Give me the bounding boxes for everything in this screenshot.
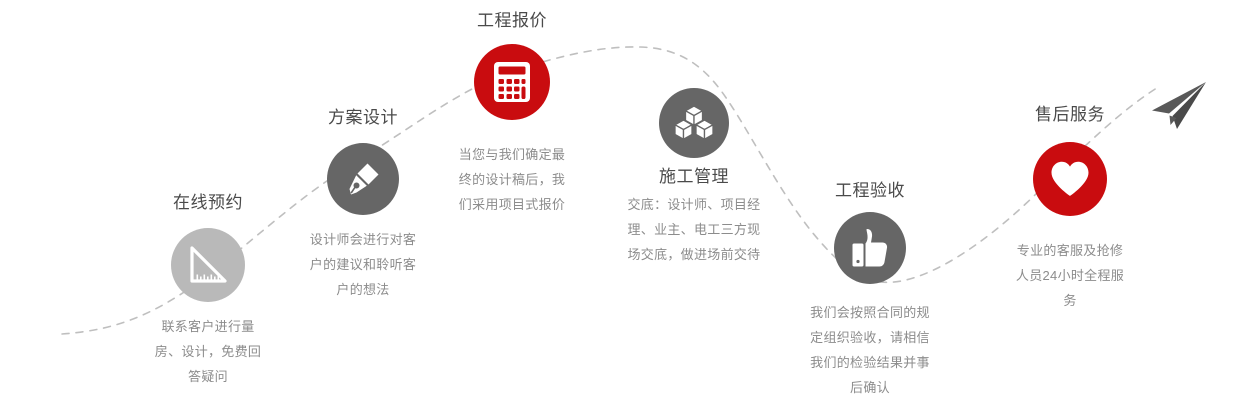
paper-plane-icon <box>1148 80 1210 132</box>
step-description-line: 当您与我们确定最 <box>412 142 612 167</box>
step-title: 工程报价 <box>412 10 612 32</box>
flow-step-project-quotation[interactable]: 工程报价 <box>412 10 612 217</box>
step-description-line: 人员24小时全程服 <box>970 263 1170 288</box>
step-description-line: 场交底，做进场前交待 <box>594 242 794 267</box>
step-description: 当您与我们确定最 终的设计稿后，我 们采用项目式报价 <box>412 142 612 217</box>
step-description-line: 房、设计，免费回 <box>108 339 308 364</box>
step-description-line: 务 <box>970 288 1170 313</box>
flow-step-after-sales-service[interactable]: 售后服务 专业的客服及抢修 人员24小时全程服 务 <box>970 104 1170 313</box>
step-description-line: 设计师会进行对客 <box>263 227 463 252</box>
step-icon-circle[interactable] <box>327 143 399 215</box>
step-description-line: 联系客户进行量 <box>108 314 308 339</box>
heart-icon <box>1049 159 1091 199</box>
service-process-flow: 在线预约 联系客户进行量 房、设计 <box>0 0 1245 402</box>
step-description-line: 理、业主、电工三方现 <box>594 217 794 242</box>
step-description: 专业的客服及抢修 人员24小时全程服 务 <box>970 238 1170 313</box>
step-description-line: 定组织验收，请相信 <box>770 325 970 350</box>
step-icon-circle[interactable] <box>834 212 906 284</box>
step-description-line: 后确认 <box>770 375 970 400</box>
flow-step-construction-management[interactable]: 施工管理 交底：设计师、项目经 理、业主、电工三方现 场交底，做进场前交待 <box>594 88 794 267</box>
step-icon-circle[interactable] <box>171 228 245 302</box>
step-title: 施工管理 <box>594 166 794 188</box>
thumbs-up-icon <box>849 226 891 270</box>
flow-step-project-acceptance[interactable]: 工程验收 我们会按照合同的规 定组织验收，请相信 我们的检验结果并事 后确认 <box>770 180 970 400</box>
step-description-line: 我们的检验结果并事 <box>770 350 970 375</box>
step-description-line: 专业的客服及抢修 <box>970 238 1170 263</box>
step-description-line: 们采用项目式报价 <box>412 192 612 217</box>
step-icon-circle[interactable] <box>659 88 729 158</box>
step-description-line: 交底：设计师、项目经 <box>594 192 794 217</box>
step-description-line: 户的建议和聆听客 <box>263 252 463 277</box>
step-description-line: 户的想法 <box>263 277 463 302</box>
ruler-triangle-icon <box>186 243 230 287</box>
calculator-icon <box>492 60 532 104</box>
step-icon-circle[interactable] <box>1033 142 1107 216</box>
fountain-pen-icon <box>343 159 383 199</box>
step-description-line: 我们会按照合同的规 <box>770 300 970 325</box>
step-title: 售后服务 <box>970 104 1170 126</box>
step-description: 我们会按照合同的规 定组织验收，请相信 我们的检验结果并事 后确认 <box>770 300 970 400</box>
step-description-line: 答疑问 <box>108 364 308 389</box>
step-description: 联系客户进行量 房、设计，免费回 答疑问 <box>108 314 308 389</box>
step-description-line: 终的设计稿后，我 <box>412 167 612 192</box>
step-description: 交底：设计师、项目经 理、业主、电工三方现 场交底，做进场前交待 <box>594 192 794 267</box>
step-icon-circle[interactable] <box>474 44 550 120</box>
boxes-stack-icon <box>673 104 715 142</box>
step-description: 设计师会进行对客 户的建议和聆听客 户的想法 <box>263 227 463 302</box>
step-title: 工程验收 <box>770 180 970 202</box>
